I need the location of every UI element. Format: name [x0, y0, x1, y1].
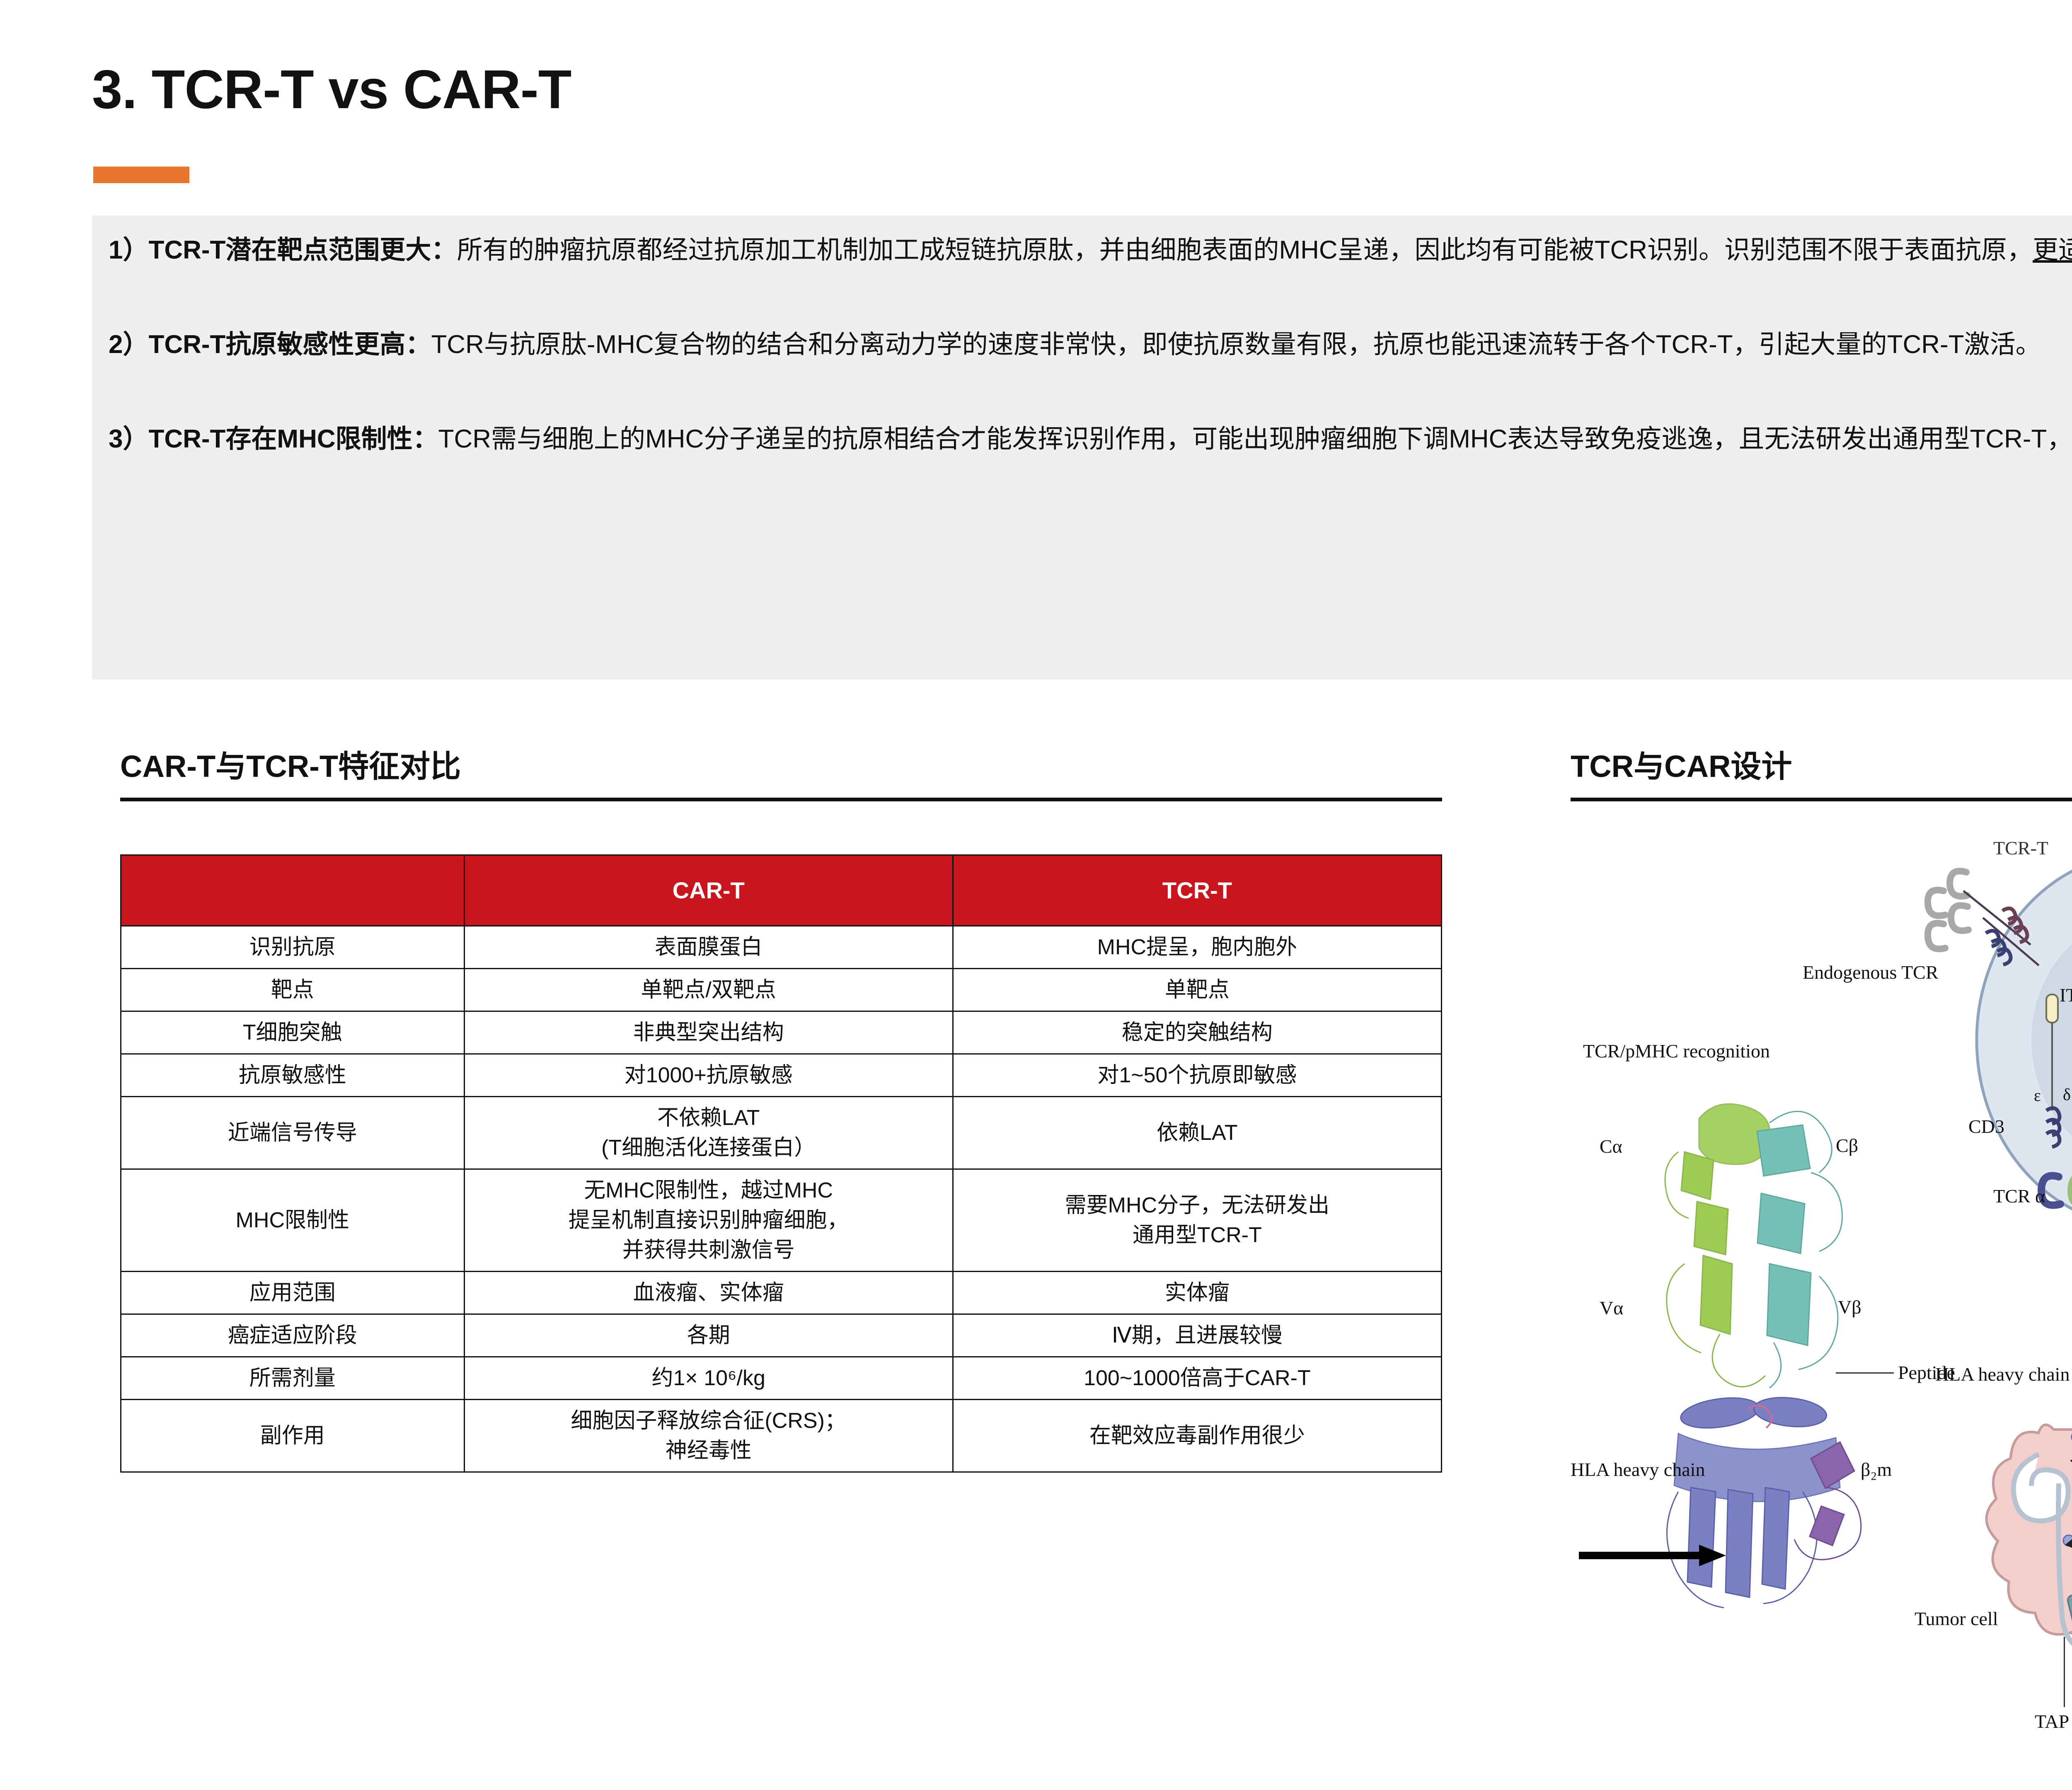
- paragraph-2: 2）TCR-T抗原敏感性更高：TCR与抗原肽-MHC复合物的结合和分离动力学的速…: [109, 326, 2072, 364]
- cell-tcr-t: 需要MHC分子，无法研发出通用型TCR-T: [953, 1169, 1441, 1272]
- page-title: 3. TCR-T vs CAR-T: [92, 58, 571, 121]
- cell-car-t: 非典型突出结构: [464, 1011, 953, 1054]
- table-row: 副作用细胞因子释放综合征(CRS)；神经毒性在靶效应毒副作用很少: [121, 1400, 1442, 1472]
- table-row: T细胞突触非典型突出结构稳定的突触结构: [121, 1011, 1442, 1054]
- v-beta-label: Vβ: [1838, 1296, 1861, 1318]
- paragraph-1-index: 1）: [109, 236, 148, 264]
- row-label: MHC限制性: [121, 1169, 465, 1272]
- cell-car-t: 无MHC限制性，越过MHC提呈机制直接识别肿瘤细胞，并获得共刺激信号: [464, 1169, 953, 1272]
- paragraph-2-index: 2）: [109, 330, 148, 359]
- tap-label: TAP: [2035, 1710, 2069, 1732]
- comparison-table: CAR-T TCR-T 识别抗原表面膜蛋白MHC提呈，胞内胞外靶点单靶点/双靶点…: [120, 854, 1442, 1473]
- tcr-pmhc-recognition-label: TCR/pMHC recognition: [1583, 1040, 1770, 1062]
- diagram-section-title: TCR与CAR设计: [1571, 742, 2072, 786]
- cell-tcr-t: 在靶效应毒副作用很少: [953, 1400, 1441, 1472]
- table-row: MHC限制性无MHC限制性，越过MHC提呈机制直接识别肿瘤细胞，并获得共刺激信号…: [121, 1169, 1442, 1272]
- diagram-panel-header-tcrt: TCR-T: [1993, 837, 2048, 859]
- table-header-tcr-t: TCR-T: [953, 855, 1441, 926]
- table-row: 识别抗原表面膜蛋白MHC提呈，胞内胞外: [121, 926, 1442, 969]
- delta-label: δ: [2063, 1085, 2071, 1104]
- c-beta-label: Cβ: [1836, 1134, 1858, 1156]
- tcr-t-cell-illustration: [1894, 862, 2072, 1338]
- paragraph-3-lead: TCR-T存在MHC限制性：: [148, 425, 438, 453]
- table-row: 癌症适应阶段各期Ⅳ期，且进展较慢: [121, 1314, 1442, 1357]
- structure-b2m-label: β₂m: [1861, 1459, 1892, 1480]
- paragraph-1-underlined: 更适合于实体瘤治疗: [2033, 236, 2072, 264]
- epsilon-left-label: ε: [2034, 1086, 2041, 1105]
- paragraph-3-text-a: TCR需与细胞上的MHC分子递呈的抗原相结合才能发挥识别作用，可能出现肿瘤细胞下…: [438, 425, 2072, 453]
- cell-tcr-t: 实体瘤: [953, 1272, 1441, 1314]
- paragraph-1-lead: TCR-T潜在靶点范围更大：: [148, 236, 457, 264]
- tcr-car-design-diagram: TCR-T CAR-T TCR/pMHC recognition: [1571, 837, 2072, 1744]
- table-row: 应用范围血液瘤、实体瘤实体瘤: [121, 1272, 1442, 1314]
- row-label: 近端信号传导: [121, 1097, 465, 1169]
- cell-car-t: 不依赖LAT(T细胞活化连接蛋白）: [464, 1097, 953, 1169]
- table-header-car-t: CAR-T: [464, 855, 953, 926]
- cell-car-t: 各期: [464, 1314, 953, 1357]
- row-label: 靶点: [121, 969, 465, 1011]
- table-header-row: CAR-T TCR-T: [121, 855, 1442, 926]
- cell-tcr-t: 稳定的突触结构: [953, 1011, 1441, 1054]
- tumor-left-hla-heavy-chain-label: HLA heavy chain: [1935, 1363, 2070, 1385]
- table-row: 近端信号传导不依赖LAT(T细胞活化连接蛋白）依赖LAT: [121, 1097, 1442, 1169]
- cell-tcr-t: 单靶点: [953, 969, 1441, 1011]
- body-text-panel: 1）TCR-T潜在靶点范围更大：所有的肿瘤抗原都经过抗原加工机制加工成短链抗原肽…: [92, 215, 2072, 680]
- itam-label: ITAM: [2060, 984, 2072, 1006]
- cell-car-t: 血液瘤、实体瘤: [464, 1272, 953, 1314]
- table-section-header: CAR-T与TCR-T特征对比: [120, 742, 1442, 801]
- row-label: 癌症适应阶段: [121, 1314, 465, 1357]
- tumor-cell-label: Tumor cell: [1915, 1608, 1998, 1630]
- cell-car-t: 单靶点/双靶点: [464, 969, 953, 1011]
- table-row: 抗原敏感性对1000+抗原敏感对1~50个抗原即敏感: [121, 1054, 1442, 1097]
- cell-car-t: 对1000+抗原敏感: [464, 1054, 953, 1097]
- cell-car-t: 表面膜蛋白: [464, 926, 953, 969]
- table-row: 靶点单靶点/双靶点单靶点: [121, 969, 1442, 1011]
- row-label: 识别抗原: [121, 926, 465, 969]
- cd3-left-label: CD3: [1968, 1115, 2004, 1137]
- paragraph-3: 3）TCR-T存在MHC限制性：TCR需与细胞上的MHC分子递呈的抗原相结合才能…: [109, 420, 2072, 458]
- cell-car-t: 约1× 10⁶/kg: [464, 1357, 953, 1400]
- v-alpha-label: Vα: [1600, 1297, 1623, 1319]
- paragraph-2-text-a: TCR与抗原肽-MHC复合物的结合和分离动力学的速度非常快，即使抗原数量有限，抗…: [431, 330, 2041, 359]
- peptide-leader-line: [1836, 1372, 1894, 1374]
- process-arrow-icon: [1579, 1541, 1728, 1570]
- structure-hla-heavy-chain-label: HLA heavy chain: [1571, 1459, 1705, 1480]
- diagram-section-header: TCR与CAR设计: [1571, 742, 2072, 801]
- row-label: T细胞突触: [121, 1011, 465, 1054]
- title-accent-bar: [93, 167, 189, 183]
- tcr-alpha-label: TCR α: [1993, 1185, 2045, 1207]
- paragraph-2-lead: TCR-T抗原敏感性更高：: [148, 330, 431, 359]
- table-section-title: CAR-T与TCR-T特征对比: [120, 742, 1442, 786]
- paragraph-3-index: 3）: [109, 425, 148, 453]
- c-alpha-label: Cα: [1600, 1135, 1622, 1157]
- cell-tcr-t: MHC提呈，胞内胞外: [953, 926, 1441, 969]
- paragraph-1-text-a: 所有的肿瘤抗原都经过抗原加工机制加工成短链抗原肽，并由细胞表面的MHC呈递，因此…: [457, 236, 2033, 264]
- cell-tcr-t: 依赖LAT: [953, 1097, 1441, 1169]
- diagram-section-rule: [1571, 798, 2072, 801]
- row-label: 副作用: [121, 1400, 465, 1472]
- table-section-rule: [120, 798, 1442, 801]
- endogenous-tcr-label: Endogenous TCR: [1803, 961, 1939, 983]
- paragraph-1: 1）TCR-T潜在靶点范围更大：所有的肿瘤抗原都经过抗原加工机制加工成短链抗原肽…: [109, 231, 2072, 269]
- row-label: 所需剂量: [121, 1357, 465, 1400]
- table-header-blank: [121, 855, 465, 926]
- tap-leader: [2064, 1637, 2065, 1707]
- cell-car-t: 细胞因子释放综合征(CRS)；神经毒性: [464, 1400, 953, 1472]
- cell-tcr-t: 对1~50个抗原即敏感: [953, 1054, 1441, 1097]
- cell-tcr-t: Ⅳ期，且进展较慢: [953, 1314, 1441, 1357]
- row-label: 应用范围: [121, 1272, 465, 1314]
- row-label: 抗原敏感性: [121, 1054, 465, 1097]
- cell-tcr-t: 100~1000倍高于CAR-T: [953, 1357, 1441, 1400]
- table-row: 所需剂量约1× 10⁶/kg100~1000倍高于CAR-T: [121, 1357, 1442, 1400]
